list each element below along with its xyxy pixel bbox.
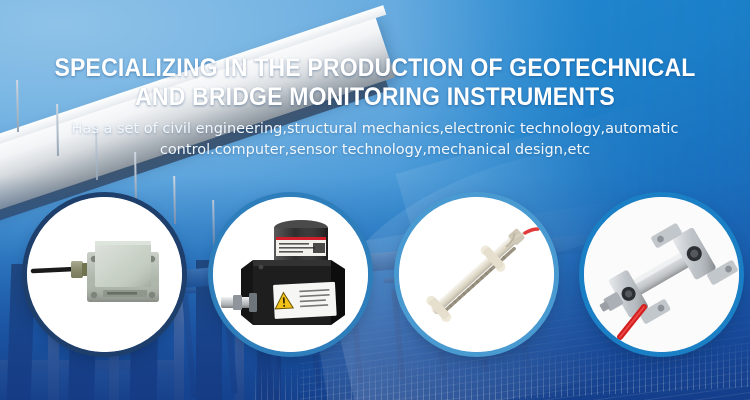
subtitle: Has a set of civil engineering,structura… [0, 119, 750, 160]
hero-banner: SPECIALIZING IN THE PRODUCTION OF GEOTEC… [0, 0, 750, 400]
subtitle-line-2: control.computer,sensor technology,mecha… [0, 140, 750, 161]
product-circle-1[interactable] [27, 197, 182, 352]
product-circle-2[interactable] [213, 197, 368, 352]
headline: SPECIALIZING IN THE PRODUCTION OF GEOTEC… [30, 54, 720, 112]
product-circle-3[interactable] [399, 197, 554, 352]
product-circle-4[interactable] [584, 197, 739, 352]
tilt-sensor-enclosure-icon [27, 197, 182, 352]
subtitle-line-1: Has a set of civil engineering,structura… [0, 119, 750, 140]
draw-wire-displacement-sensor-icon [213, 197, 368, 352]
headline-line-1: SPECIALIZING IN THE PRODUCTION OF GEOTEC… [30, 54, 720, 83]
crack-joint-meter-icon [584, 197, 739, 352]
headline-line-2: AND BRIDGE MONITORING INSTRUMENTS [30, 83, 720, 112]
inclinometer-probe-rod-icon [399, 197, 554, 352]
